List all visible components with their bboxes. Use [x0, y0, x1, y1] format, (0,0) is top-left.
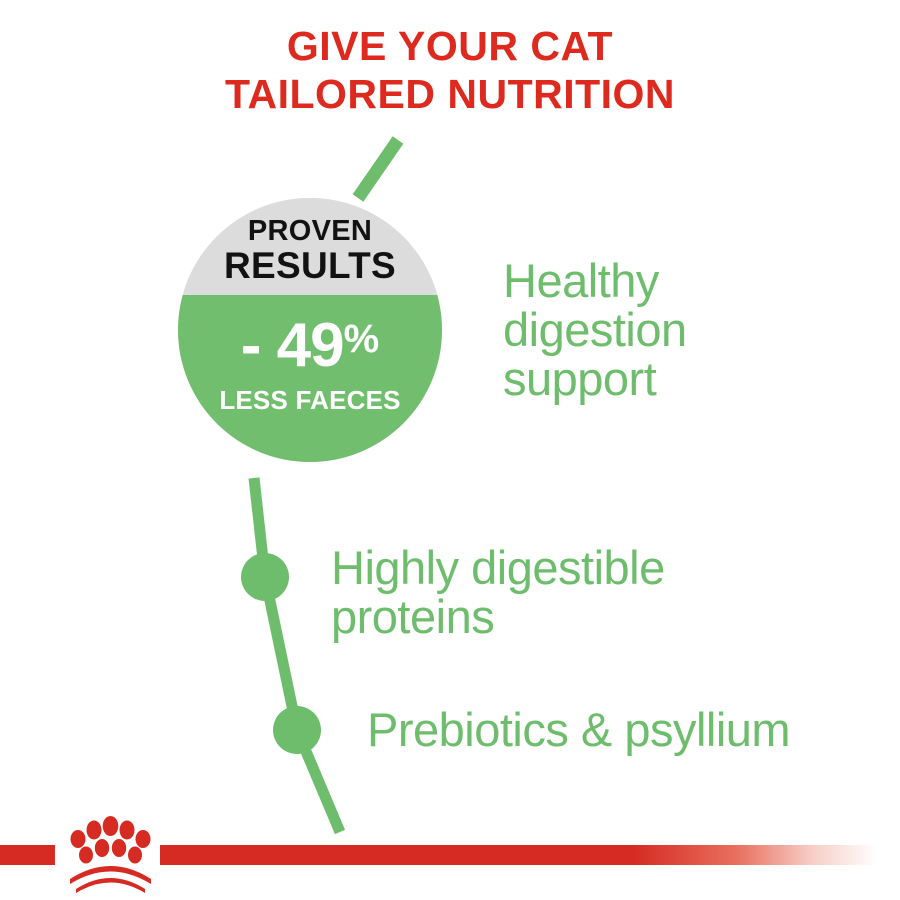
- royal-canin-crown-icon: [58, 815, 163, 893]
- feature-2-line-1: Highly digestible: [331, 543, 781, 592]
- connector-node-1: [241, 553, 289, 601]
- badge-percent-number: - 49: [241, 311, 344, 380]
- promo-canvas: GIVE YOUR CAT TAILORED NUTRITION PROVEN …: [0, 0, 900, 900]
- connector-flow-line: [0, 0, 900, 900]
- badge-proven-label: PROVEN: [178, 216, 442, 247]
- badge-results-label: RESULTS: [178, 246, 442, 286]
- badge-subtitle: LESS FAECES: [178, 386, 442, 414]
- feature-1-line-3: support: [503, 354, 833, 403]
- badge-percent-value: - 49%: [178, 303, 442, 382]
- feature-2-line-2: proteins: [331, 592, 781, 641]
- percent-icon: %: [344, 317, 380, 361]
- feature-3-line-1: Prebiotics & psyllium: [367, 705, 887, 754]
- connector-node-2: [273, 706, 321, 754]
- feature-highly-digestible-proteins: Highly digestible proteins: [331, 543, 781, 641]
- footer-bar-left: [0, 845, 55, 865]
- feature-1-line-2: digestion: [503, 305, 833, 354]
- feature-healthy-digestion-support: Healthy digestion support: [503, 256, 833, 403]
- connector-segment-top: [358, 140, 398, 198]
- proven-results-badge: PROVEN RESULTS - 49% LESS FAECES: [178, 198, 442, 462]
- footer-brand-bar: [0, 845, 900, 865]
- feature-1-line-1: Healthy: [503, 256, 833, 305]
- feature-prebiotics-and-psyllium: Prebiotics & psyllium: [367, 705, 887, 754]
- footer-bar-right: [160, 845, 900, 865]
